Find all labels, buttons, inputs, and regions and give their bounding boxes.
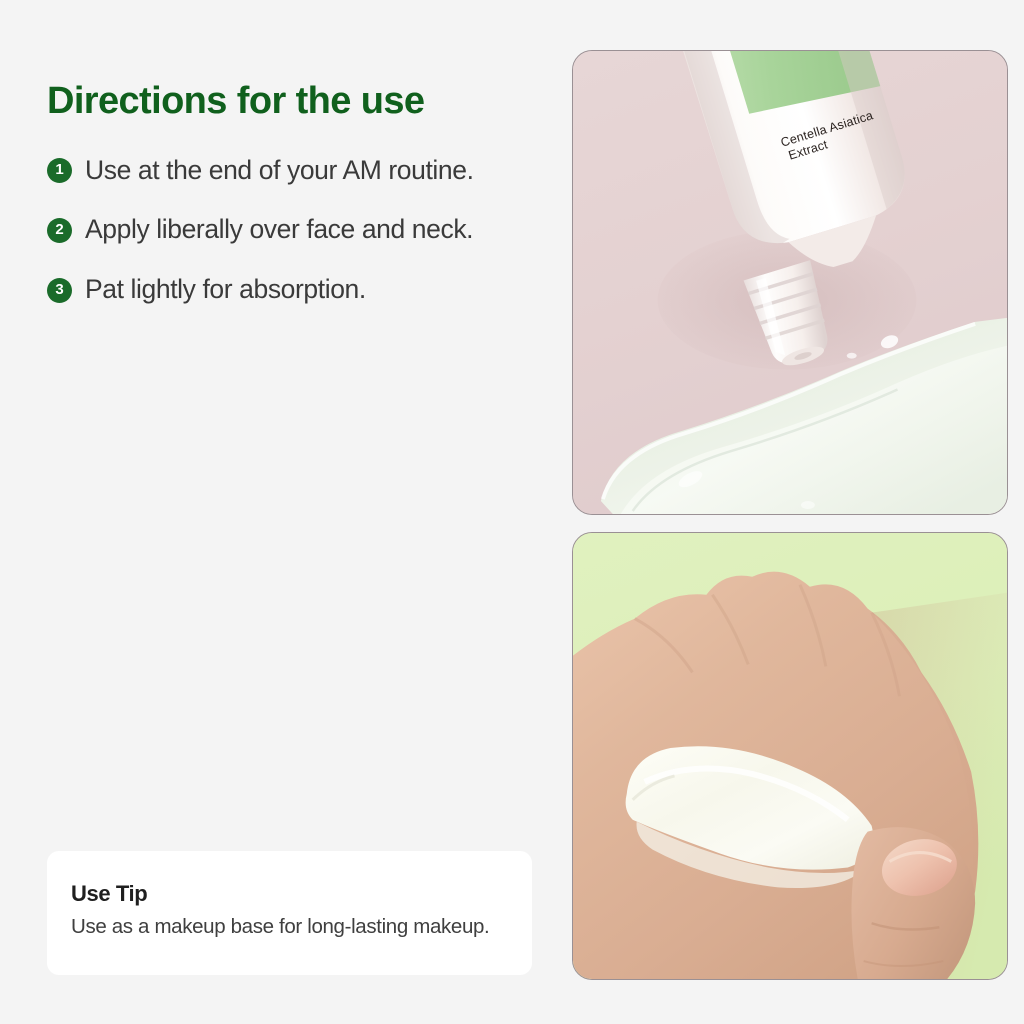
hand-swatch-illustration (573, 533, 1007, 979)
list-item: 3 Pat lightly for absorption. (47, 274, 547, 306)
step-number-badge: 2 (47, 218, 72, 243)
hand-swatch-photo (572, 532, 1008, 980)
infographic-page: Directions for the use 1 Use at the end … (0, 0, 1024, 1024)
step-number-badge: 3 (47, 278, 72, 303)
use-tip-body: Use as a makeup base for long-lasting ma… (71, 915, 514, 939)
use-tip-content: Use Tip Use as a makeup base for long-la… (71, 881, 514, 939)
product-tube-illustration (573, 51, 1007, 514)
list-item: 1 Use at the end of your AM routine. (47, 155, 547, 187)
step-label: Apply liberally over face and neck. (85, 214, 473, 246)
directions-section: Directions for the use 1 Use at the end … (47, 80, 547, 334)
step-number-badge: 1 (47, 158, 72, 183)
product-tube-photo: Centella Asiatica Extract (572, 50, 1008, 515)
use-tip-title: Use Tip (71, 881, 514, 907)
steps-list: 1 Use at the end of your AM routine. 2 A… (47, 155, 547, 306)
page-title: Directions for the use (47, 80, 547, 123)
list-item: 2 Apply liberally over face and neck. (47, 214, 547, 246)
step-label: Use at the end of your AM routine. (85, 155, 474, 187)
step-label: Pat lightly for absorption. (85, 274, 366, 306)
use-tip-card: Use Tip Use as a makeup base for long-la… (47, 851, 532, 975)
